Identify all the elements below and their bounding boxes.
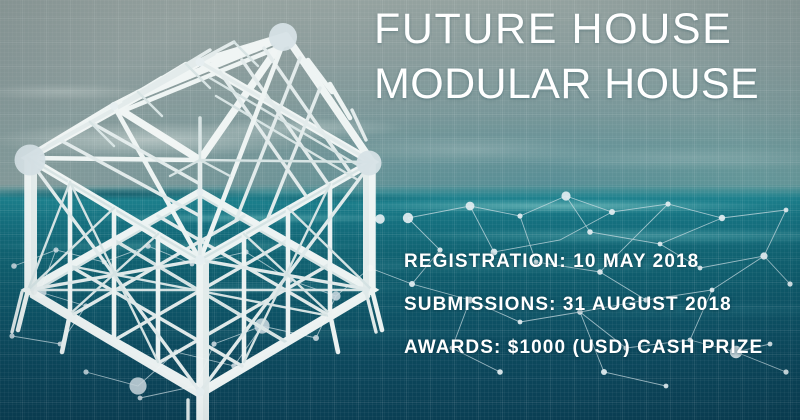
title-line-future-house: FUTURE HOUSE	[374, 2, 794, 57]
poster-title: FUTURE HOUSE MODULAR HOUSE	[374, 2, 794, 112]
competition-details: REGISTRATION: 10 MAY 2018 SUBMISSIONS: 3…	[404, 240, 794, 369]
detail-registration: REGISTRATION: 10 MAY 2018	[404, 240, 794, 283]
poster-banner: .bm { stroke:#f4f8f7; stroke-width:7.5; …	[0, 0, 800, 420]
detail-awards: AWARDS: $1000 (USD) CASH PRIZE	[404, 326, 794, 369]
title-line-modular-house: MODULAR HOUSE	[374, 57, 794, 112]
detail-submissions: SUBMISSIONS: 31 AUGUST 2018	[404, 283, 794, 326]
